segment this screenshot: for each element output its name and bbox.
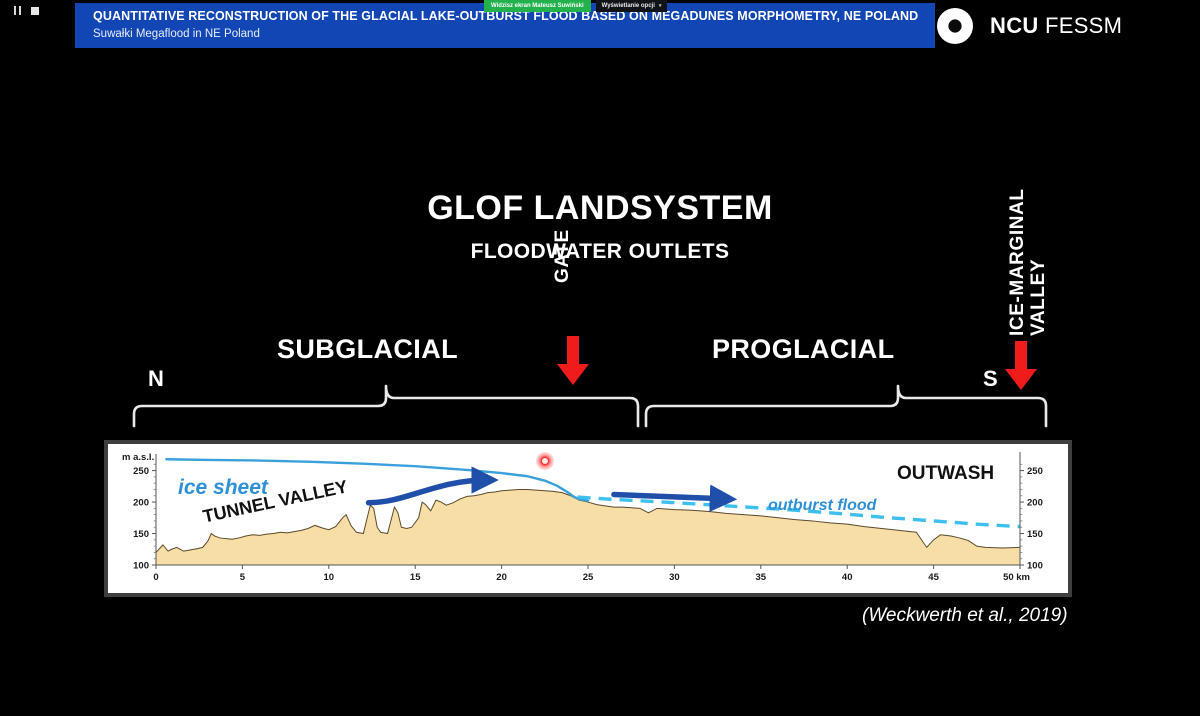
zone-braces [130, 378, 1050, 433]
citation: (Weckwerth et al., 2019) [862, 605, 1068, 627]
screen-share-controls [14, 6, 39, 15]
svg-text:25: 25 [583, 572, 594, 583]
annotation-outwash: OUTWASH [897, 463, 994, 485]
chart-plot-area: 1001001501502002002502500510152025303540… [108, 444, 1068, 593]
svg-text:35: 35 [756, 572, 767, 583]
meeting-share-bar: Widzisz ekran Mateusz Suwiński Wyświetla… [484, 0, 667, 12]
view-options-label: Wyświetlanie opcji [602, 3, 655, 9]
svg-text:150: 150 [133, 529, 149, 540]
svg-text:5: 5 [240, 572, 246, 583]
svg-text:150: 150 [1027, 529, 1043, 540]
view-options-button[interactable]: Wyświetlanie opcji ▾ [596, 0, 668, 12]
presentation-subtitle: Suwałki Megaflood in NE Poland [93, 28, 260, 40]
chevron-down-icon: ▾ [659, 4, 662, 9]
laser-pointer [536, 452, 554, 470]
zone-label-proglacial: PROGLACIAL [712, 334, 895, 365]
svg-text:100: 100 [1027, 561, 1043, 572]
cross-section-chart: 1001001501502002002502500510152025303540… [104, 440, 1072, 597]
callout-label-ice-marginal-valley: ICE-MARGINAL VALLEY [994, 168, 1034, 336]
svg-text:200: 200 [133, 498, 149, 509]
svg-text:250: 250 [1027, 466, 1043, 477]
svg-text:50 km: 50 km [1003, 572, 1030, 583]
svg-text:20: 20 [496, 572, 507, 583]
svg-text:15: 15 [410, 572, 421, 583]
svg-text:200: 200 [1027, 498, 1043, 509]
svg-text:30: 30 [669, 572, 680, 583]
logo-bold-text: NCU [990, 13, 1039, 38]
svg-text:40: 40 [842, 572, 853, 583]
annotation-outburst-flood: outburst flood [768, 497, 876, 515]
svg-text:0: 0 [153, 572, 158, 583]
y-axis-unit-label: m a.s.l. [122, 452, 154, 463]
callout-line-1: ICE-MARGINAL [1007, 188, 1029, 336]
stop-icon[interactable] [31, 7, 39, 15]
callout-label-gate: GATE [552, 229, 574, 283]
svg-text:100: 100 [133, 561, 149, 572]
ncu-ring-icon [930, 2, 978, 50]
callout-line-2: VALLEY [1028, 259, 1050, 336]
svg-text:45: 45 [928, 572, 939, 583]
svg-text:250: 250 [133, 466, 149, 477]
logo-light-text: FESSM [1045, 13, 1122, 38]
ncu-fessm-logo: NCU FESSM [930, 2, 1115, 50]
slide-root: QUANTITATIVE RECONSTRUCTION OF THE GLACI… [0, 0, 1200, 716]
sharing-notice-badge: Widzisz ekran Mateusz Suwiński [484, 0, 591, 12]
zone-label-subglacial: SUBGLACIAL [277, 334, 458, 365]
svg-text:10: 10 [324, 572, 335, 583]
logo-text: NCU FESSM [990, 13, 1122, 39]
pause-icon[interactable] [14, 6, 21, 15]
